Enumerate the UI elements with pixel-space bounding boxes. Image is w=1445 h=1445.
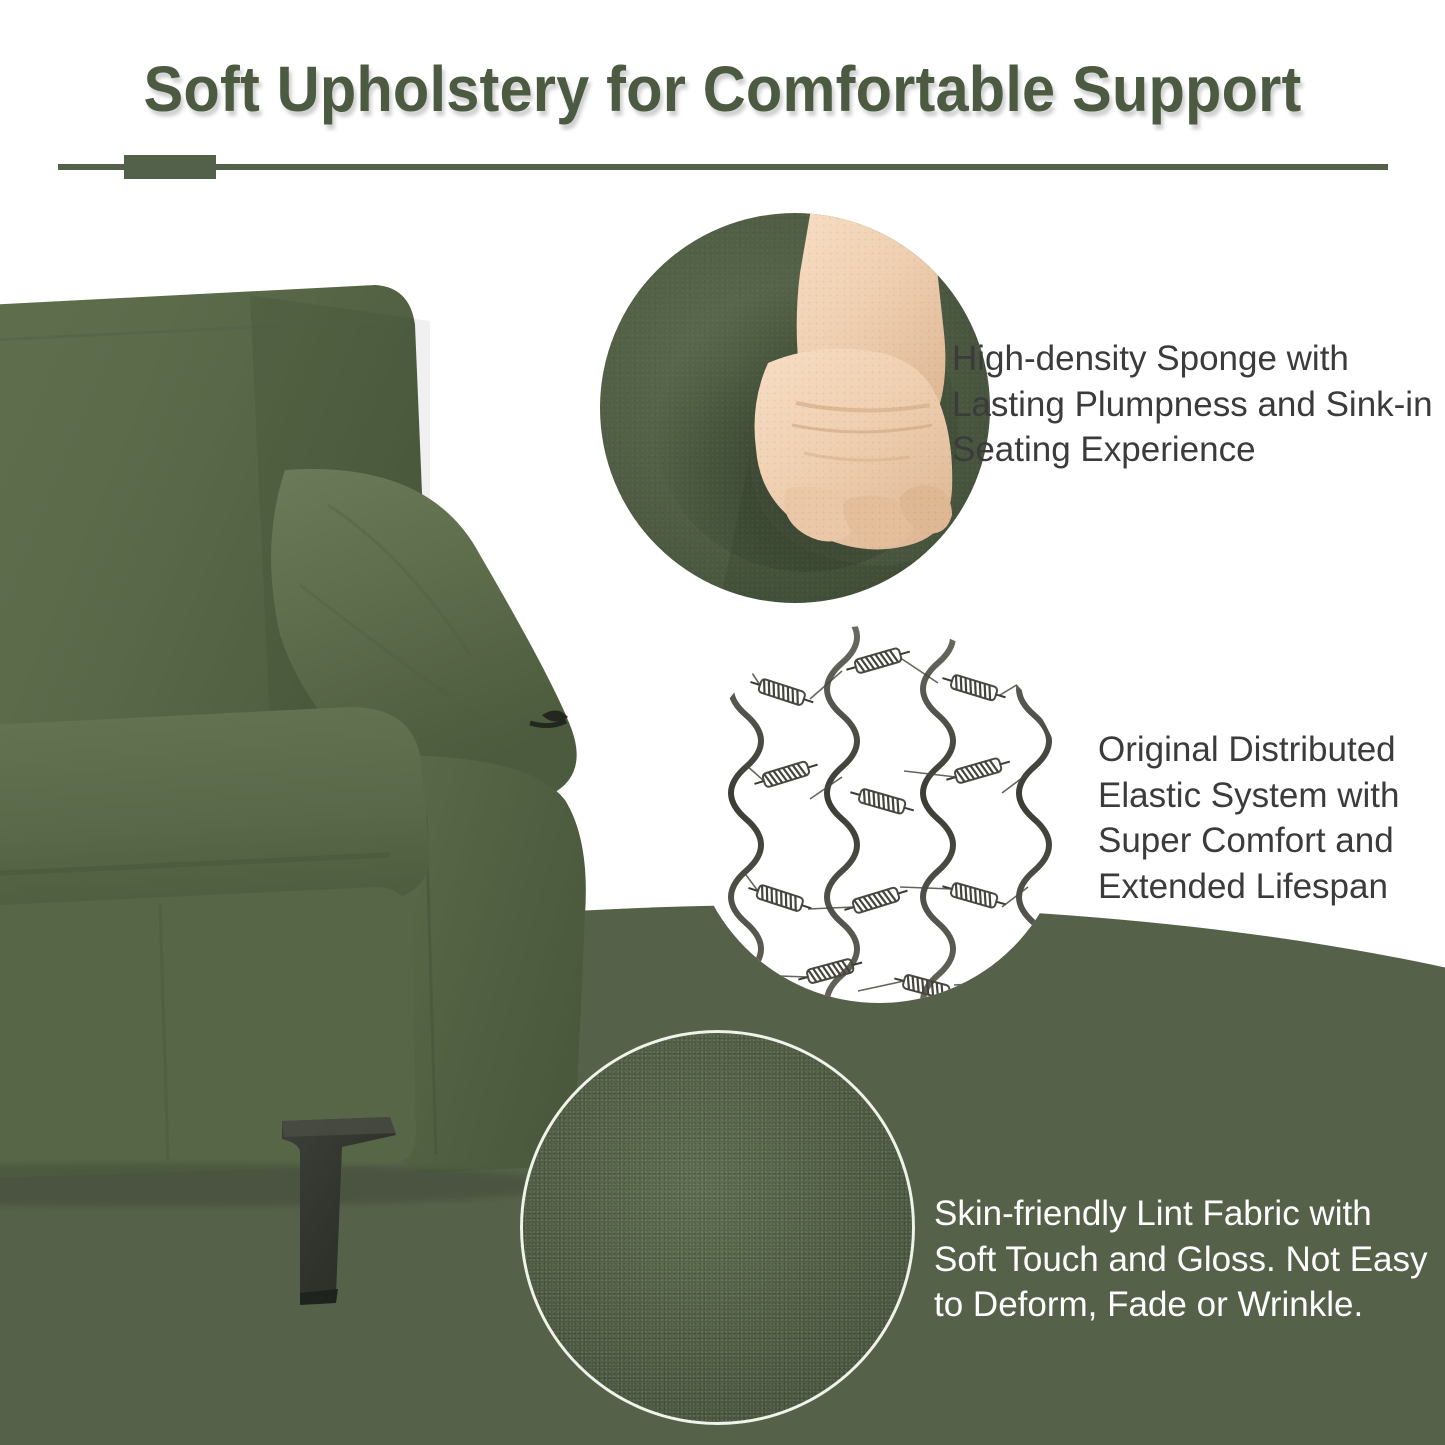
title-divider <box>58 154 1388 180</box>
feature-text-springs-line-2: Elastic System with <box>1098 773 1428 819</box>
feature-text-fabric-line-1: Skin-friendly Lint Fabric with <box>934 1191 1434 1237</box>
divider-accent-block <box>124 155 216 179</box>
feature-image-spring-system <box>690 625 1068 1003</box>
feature-image-fabric-swatch <box>520 1030 915 1425</box>
feature-text-sponge-line-1: High-density Sponge with <box>952 336 1422 382</box>
feature-text-sponge-line-2: Lasting Plumpness and Sink-in <box>952 382 1422 428</box>
feature-text-springs-line-1: Original Distributed <box>1098 727 1428 773</box>
feature-text-fabric-line-3: to Deform, Fade or Wrinkle. <box>934 1282 1434 1328</box>
page-title: Soft Upholstery for Comfortable Support <box>51 52 1395 126</box>
fabric-circle-ring <box>520 1030 915 1425</box>
feature-text-fabric-line-2: Soft Touch and Gloss. Not Easy <box>934 1237 1434 1283</box>
feature-text-springs-line-3: Super Comfort and <box>1098 818 1428 864</box>
feature-image-sponge <box>600 213 990 603</box>
spring-diagram <box>690 625 1068 1003</box>
feature-text-fabric: Skin-friendly Lint Fabric with Soft Touc… <box>934 1191 1434 1328</box>
infographic-canvas: Soft Upholstery for Comfortable Support <box>0 0 1445 1445</box>
feature-text-sponge: High-density Sponge with Lasting Plumpne… <box>952 336 1422 473</box>
sponge-texture-noise <box>600 213 990 603</box>
feature-text-springs-line-4: Extended Lifespan <box>1098 864 1428 910</box>
divider-line <box>58 164 1388 170</box>
feature-text-springs: Original Distributed Elastic System with… <box>1098 727 1428 909</box>
feature-text-sponge-line-3: Seating Experience <box>952 427 1422 473</box>
